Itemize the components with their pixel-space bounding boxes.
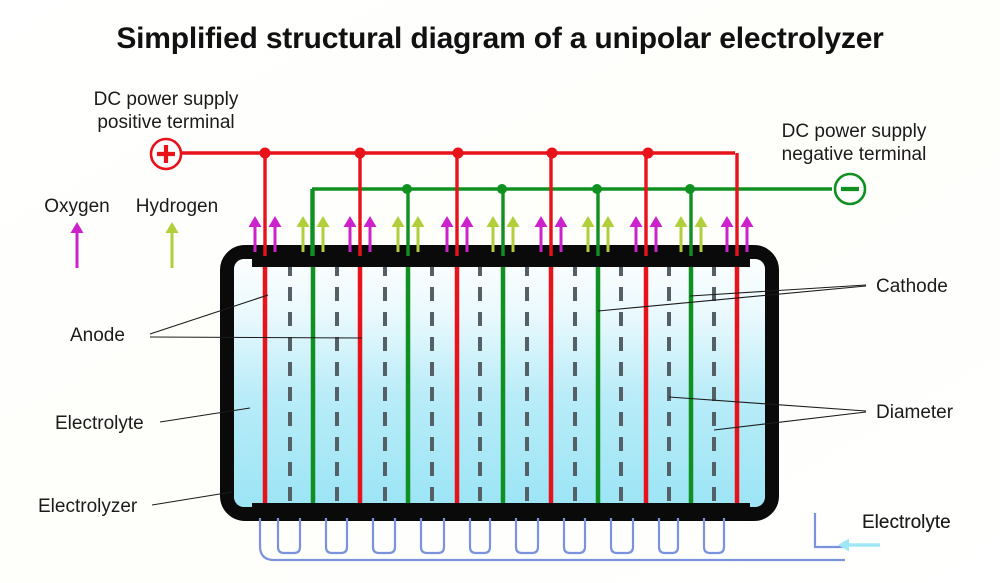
electrode-tab-bottom (633, 503, 659, 518)
gas-legend-label-oxygen: Oxygen (44, 196, 109, 217)
electrode-tab-bottom (701, 503, 727, 518)
electrolyte-feed-label: Electrolyte (862, 512, 951, 533)
positive-bus-node (643, 148, 654, 159)
negative-bus-node (497, 184, 507, 194)
electrode-tab-top (562, 252, 588, 267)
electrode-tab-top (467, 252, 493, 267)
negative-bus-node (685, 184, 695, 194)
electrode-tab-bottom (395, 503, 421, 518)
callout-label-cathode: Cathode (876, 276, 948, 297)
electrode-tab-bottom (444, 503, 470, 518)
callout-label-electrolyte-left: Electrolyte (55, 413, 144, 434)
negative-bus-node (592, 184, 602, 194)
positive-terminal-label-line1: DC power supply (94, 89, 239, 110)
positive-bus-node (260, 148, 271, 159)
electrode-tab-bottom (300, 503, 326, 518)
electrode-tab-bottom (608, 503, 634, 518)
gas-legend-label-hydrogen: Hydrogen (136, 196, 218, 217)
electrode-tab-bottom (277, 503, 303, 518)
page-title: Simplified structural diagram of a unipo… (116, 22, 884, 55)
electrode-tab-top (372, 252, 398, 267)
electrolyzer-diagram: Simplified structural diagram of a unipo… (0, 0, 1000, 583)
electrode-tab-bottom (585, 503, 611, 518)
negative-terminal-label-line1: DC power supply (782, 121, 927, 142)
callout-label-electrolyzer: Electrolyzer (38, 496, 138, 517)
electrode-tab-bottom (467, 503, 493, 518)
electrode-tab-bottom (562, 503, 588, 518)
callout-label-anode: Anode (70, 325, 125, 346)
negative-terminal-label-line2: negative terminal (782, 144, 927, 165)
electrode-tab-bottom (252, 503, 278, 518)
electrode-tab-bottom (538, 503, 564, 518)
electrode-tab-top (608, 252, 634, 267)
positive-bus-node (453, 148, 464, 159)
electrode-tab-top (514, 252, 540, 267)
electrode-tab-top (701, 252, 727, 267)
positive-terminal-label-line2: positive terminal (97, 112, 234, 133)
electrode-tab-bottom (324, 503, 350, 518)
electrode-tab-bottom (490, 503, 516, 518)
electrode-tab-bottom (419, 503, 445, 518)
electrode-tab-bottom (347, 503, 373, 518)
positive-bus-node (547, 148, 558, 159)
electrode-tab-top (277, 252, 303, 267)
electrode-tab-bottom (514, 503, 540, 518)
diagram-canvas: Simplified structural diagram of a unipo… (0, 0, 1000, 583)
positive-bus-node (355, 148, 366, 159)
negative-bus-node (402, 184, 412, 194)
callout-label-diameter: Diameter (876, 402, 954, 423)
electrode-tab-top (419, 252, 445, 267)
electrode-tab-bottom (372, 503, 398, 518)
electrode-tab-top (324, 252, 350, 267)
electrode-tab-bottom (678, 503, 704, 518)
electrode-tab-bottom (724, 503, 750, 518)
